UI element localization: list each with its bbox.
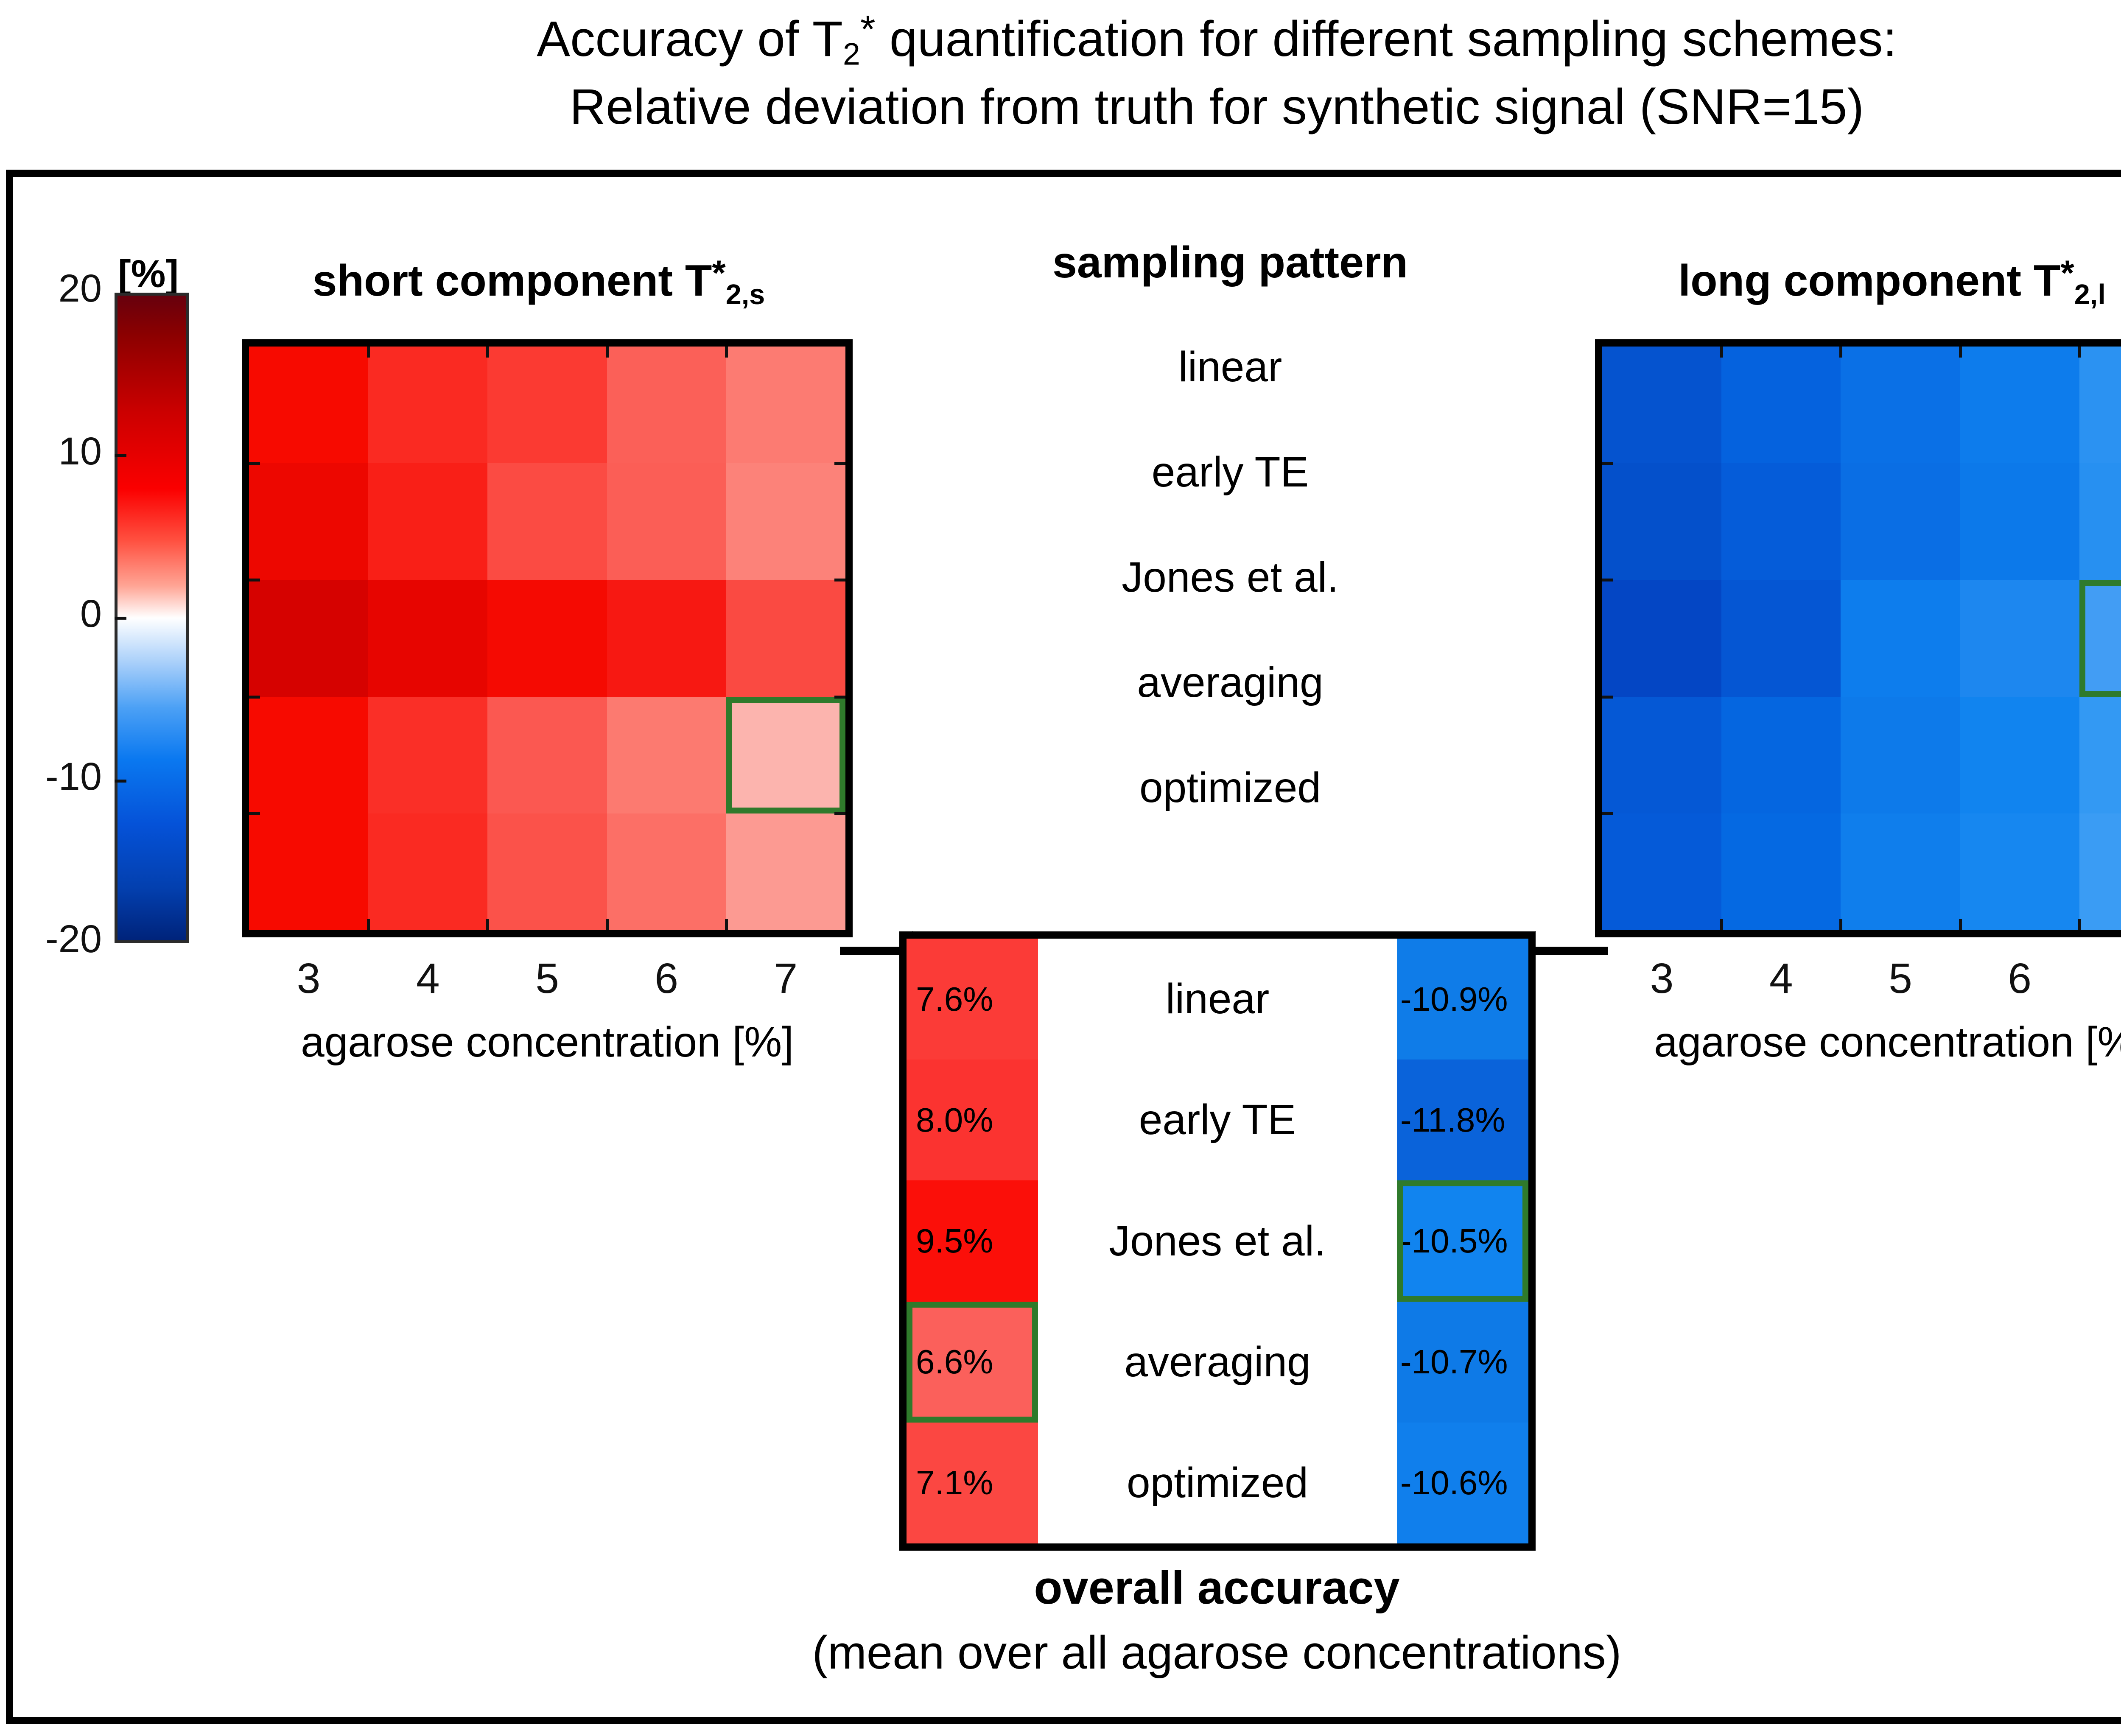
summary-value-cell[interactable]: 7.6%: [907, 939, 1038, 1059]
axis-tick-icon: [2078, 919, 2081, 930]
axis-tick-icon: [1959, 347, 1962, 358]
axis-tick-label: 4: [368, 954, 487, 1003]
heatmap-cell[interactable]: [2079, 813, 2121, 930]
heatmap-cell[interactable]: [249, 463, 368, 580]
right-panel-heading: long component T*2,l: [1561, 253, 2121, 311]
right-heatmap-grid: [1602, 347, 2121, 930]
heatmap-cell[interactable]: [368, 580, 487, 696]
heatmap-cell[interactable]: [1960, 580, 2079, 696]
heatmap-cell[interactable]: [1721, 347, 1841, 463]
heatmap-cell[interactable]: [487, 813, 607, 930]
heatmap-cell[interactable]: [368, 697, 487, 813]
axis-tick-icon: [1839, 347, 1842, 358]
heatmap-cell[interactable]: [487, 697, 607, 813]
left-axis-title: agarose concentration [%]: [242, 1018, 853, 1067]
heatmap-cell[interactable]: [1721, 697, 1841, 813]
axis-tick-icon: [834, 812, 845, 815]
title-line-1: Accuracy of T2* quantification for diffe…: [537, 11, 1897, 67]
heatmap-cell[interactable]: [487, 347, 607, 463]
heatmap-cell[interactable]: [1960, 697, 2079, 813]
axis-tick-icon: [606, 919, 609, 930]
summary-value-cell[interactable]: -10.7%: [1397, 1302, 1528, 1423]
colorbar-tick-label: -10: [17, 755, 102, 799]
heatmap-cell[interactable]: [607, 813, 726, 930]
summary-value-cell[interactable]: -11.8%: [1397, 1059, 1528, 1180]
colorbar-tick-label: 20: [17, 266, 102, 311]
heatmap-cell[interactable]: [487, 580, 607, 696]
summary-scheme-labels: linearearly TEJones et al.averagingoptim…: [1038, 939, 1397, 1543]
sampling-pattern-heading: sampling pattern: [912, 238, 1548, 288]
heatmap-cell[interactable]: [1960, 463, 2079, 580]
summary-value-cell[interactable]: 7.1%: [907, 1423, 1038, 1543]
caption-heading: overall accuracy: [0, 1561, 2121, 1615]
heatmap-cell[interactable]: [249, 813, 368, 930]
heatmap-cell[interactable]: [726, 347, 845, 463]
heatmap-cell[interactable]: [2079, 697, 2121, 813]
summary-value-cell[interactable]: 8.0%: [907, 1059, 1038, 1180]
axis-tick-icon: [249, 579, 260, 581]
axis-tick-icon: [725, 347, 728, 358]
colorbar-tick-icon: [115, 454, 126, 457]
heatmap-cell[interactable]: [368, 813, 487, 930]
right-axis-title: agarose concentration [%]: [1595, 1018, 2121, 1067]
heatmap-cell[interactable]: [368, 347, 487, 463]
axis-tick-label: 3: [1602, 954, 1721, 1003]
summary-highlight-box: [1397, 1180, 1528, 1301]
summary-value-cell[interactable]: -10.9%: [1397, 939, 1528, 1059]
heatmap-cell[interactable]: [487, 463, 607, 580]
axis-tick-icon: [367, 919, 370, 930]
summary-long-column: -10.9%-11.8%-10.5%-10.7%-10.6%: [1397, 939, 1528, 1543]
axis-tick-icon: [1720, 919, 1723, 930]
axis-tick-icon: [2078, 347, 2081, 358]
heatmap-cell[interactable]: [2079, 580, 2121, 696]
axis-tick-icon: [606, 347, 609, 358]
sampling-pattern-item-early-te[interactable]: early TE: [912, 419, 1548, 525]
right-heatmap[interactable]: [1595, 339, 2121, 937]
heatmap-cell[interactable]: [1602, 580, 1721, 696]
left-panel-heading: short component T*2,s: [208, 253, 870, 311]
axis-tick-label: 5: [1841, 954, 1960, 1003]
heatmap-cell[interactable]: [2079, 347, 2121, 463]
summary-scheme-label: averaging: [1038, 1302, 1397, 1423]
left-colorbar-unit: [%]: [118, 252, 179, 296]
heatmap-cell[interactable]: [1721, 580, 1841, 696]
sampling-pattern-item-averaging[interactable]: averaging: [912, 630, 1548, 735]
left-heatmap[interactable]: [242, 339, 853, 937]
heatmap-cell[interactable]: [1721, 813, 1841, 930]
axis-tick-icon: [1602, 812, 1613, 815]
heatmap-cell[interactable]: [607, 697, 726, 813]
heatmap-cell[interactable]: [1721, 463, 1841, 580]
title-line-2: Relative deviation from truth for synthe…: [0, 75, 2121, 140]
overall-accuracy-panel[interactable]: 7.6%8.0%9.5%6.6%7.1% linearearly TEJones…: [899, 931, 1536, 1551]
axis-tick-label: 6: [607, 954, 726, 1003]
axis-tick-icon: [367, 347, 370, 358]
heatmap-cell[interactable]: [607, 463, 726, 580]
axis-tick-label: 7: [726, 954, 845, 1003]
colorbar-tick-label: 10: [17, 429, 102, 474]
heatmap-cell[interactable]: [1960, 347, 2079, 463]
colorbar-tick-icon: [115, 617, 126, 620]
heatmap-cell[interactable]: [1602, 463, 1721, 580]
heatmap-cell[interactable]: [607, 580, 726, 696]
axis-tick-icon: [1959, 919, 1962, 930]
summary-value-cell[interactable]: 9.5%: [907, 1180, 1038, 1301]
axis-tick-icon: [834, 696, 845, 699]
axis-tick-icon: [486, 919, 489, 930]
heatmap-cell[interactable]: [1602, 697, 1721, 813]
heatmap-cell[interactable]: [1602, 813, 1721, 930]
sampling-pattern-item-linear[interactable]: linear: [912, 314, 1548, 419]
axis-tick-icon: [1839, 919, 1842, 930]
summary-scheme-label: optimized: [1038, 1423, 1397, 1543]
left-axis-tick-labels: 34567: [249, 954, 845, 1003]
heatmap-cell[interactable]: [1841, 697, 1960, 813]
heatmap-cell[interactable]: [1841, 813, 1960, 930]
axis-tick-icon: [249, 812, 260, 815]
summary-scheme-label: Jones et al.: [1038, 1180, 1397, 1301]
sampling-pattern-list: linearearly TEJones et al.averagingoptim…: [912, 314, 1548, 840]
heatmap-cell[interactable]: [2079, 463, 2121, 580]
axis-tick-icon: [1602, 462, 1613, 465]
summary-value-cell[interactable]: -10.5%: [1397, 1180, 1528, 1301]
summary-scheme-label: early TE: [1038, 1059, 1397, 1180]
heatmap-cell[interactable]: [1960, 813, 2079, 930]
right-axis-tick-labels: 34567: [1602, 954, 2121, 1003]
colorbar-tick-label: 0: [17, 592, 102, 636]
axis-tick-icon: [249, 696, 260, 699]
figure-caption: overall accuracy (mean over all agarose …: [0, 1561, 2121, 1680]
figure-title: Accuracy of T2* quantification for diffe…: [0, 4, 2121, 140]
heatmap-cell[interactable]: [726, 697, 845, 813]
left-heatmap-grid: [249, 347, 845, 930]
axis-tick-icon: [1602, 696, 1613, 699]
axis-tick-icon: [486, 347, 489, 358]
heatmap-cell[interactable]: [249, 347, 368, 463]
colorbar-tick-icon: [115, 780, 126, 783]
heatmap-cell[interactable]: [726, 580, 845, 696]
sampling-pattern-item-optimized[interactable]: optimized: [912, 735, 1548, 840]
sampling-pattern-column: sampling pattern linearearly TEJones et …: [912, 238, 1548, 840]
heatmap-cell[interactable]: [1841, 347, 1960, 463]
axis-tick-icon: [249, 462, 260, 465]
summary-value-cell[interactable]: -10.6%: [1397, 1423, 1528, 1543]
colorbar-tick-label: -20: [17, 917, 102, 962]
summary-value-cell[interactable]: 6.6%: [907, 1302, 1038, 1423]
axis-tick-icon: [725, 919, 728, 930]
figure-root: Accuracy of T2* quantification for diffe…: [0, 0, 2121, 1736]
heatmap-cell[interactable]: [607, 347, 726, 463]
heatmap-cell[interactable]: [726, 813, 845, 930]
axis-tick-label: 7: [2079, 954, 2121, 1003]
axis-tick-label: 3: [249, 954, 368, 1003]
sampling-pattern-item-jones-et-al[interactable]: Jones et al.: [912, 525, 1548, 630]
axis-tick-label: 4: [1721, 954, 1841, 1003]
summary-scheme-label: linear: [1038, 939, 1397, 1059]
axis-tick-icon: [1602, 579, 1613, 581]
heatmap-cell[interactable]: [368, 463, 487, 580]
heatmap-cell[interactable]: [1841, 463, 1960, 580]
axis-tick-icon: [1720, 347, 1723, 358]
heatmap-cell[interactable]: [726, 463, 845, 580]
axis-tick-label: 5: [487, 954, 607, 1003]
axis-tick-label: 6: [1960, 954, 2079, 1003]
caption-subheading: (mean over all agarose concentrations): [0, 1626, 2121, 1680]
summary-highlight-box: [907, 1302, 1038, 1423]
summary-short-column: 7.6%8.0%9.5%6.6%7.1%: [907, 939, 1038, 1543]
heatmap-cell[interactable]: [249, 697, 368, 813]
axis-tick-icon: [834, 579, 845, 581]
heatmap-cell[interactable]: [249, 580, 368, 696]
axis-tick-icon: [834, 462, 845, 465]
heatmap-cell[interactable]: [1602, 347, 1721, 463]
heatmap-cell[interactable]: [1841, 580, 1960, 696]
